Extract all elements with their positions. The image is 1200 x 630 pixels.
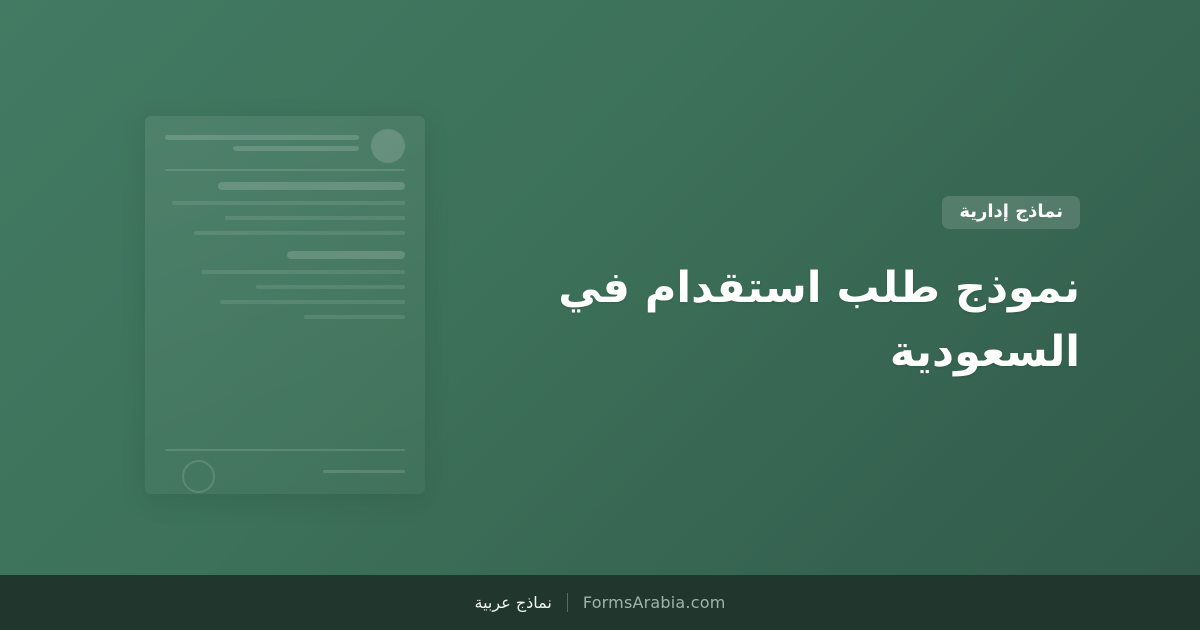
document-body <box>165 182 405 335</box>
skeleton-line <box>165 135 359 140</box>
page-title: نموذج طلب استقدام في السعودية <box>520 257 1080 384</box>
divider <box>165 169 405 171</box>
skeleton-line <box>256 285 405 289</box>
skeleton-heading <box>218 182 405 190</box>
skeleton-line <box>172 201 405 205</box>
avatar <box>371 129 405 163</box>
footer-separator <box>567 593 568 612</box>
category-badge: نماذج إدارية <box>942 196 1080 229</box>
skeleton-heading <box>287 251 405 259</box>
skeleton-line <box>304 315 405 319</box>
skeleton-line <box>194 231 405 235</box>
document-header-lines <box>165 135 359 157</box>
skeleton-line <box>233 146 359 151</box>
signature-line <box>323 470 405 473</box>
hero-content: نماذج إدارية نموذج طلب استقدام في السعود… <box>520 196 1080 384</box>
og-image-card: نماذج إدارية نموذج طلب استقدام في السعود… <box>0 0 1200 630</box>
document-preview-card <box>145 116 425 494</box>
footer-domain: FormsArabia.com <box>583 593 726 612</box>
stamp-seal-icon <box>182 460 215 493</box>
document-block <box>165 251 405 319</box>
footer-bar: FormsArabia.com نماذج عربية <box>0 575 1200 630</box>
footer-brand-arabic: نماذج عربية <box>475 593 552 612</box>
document-header <box>165 129 405 167</box>
document-footer <box>165 464 405 494</box>
skeleton-line <box>220 300 405 304</box>
document-block <box>165 182 405 235</box>
skeleton-line <box>201 270 405 274</box>
divider <box>165 449 405 451</box>
skeleton-line <box>225 216 405 220</box>
